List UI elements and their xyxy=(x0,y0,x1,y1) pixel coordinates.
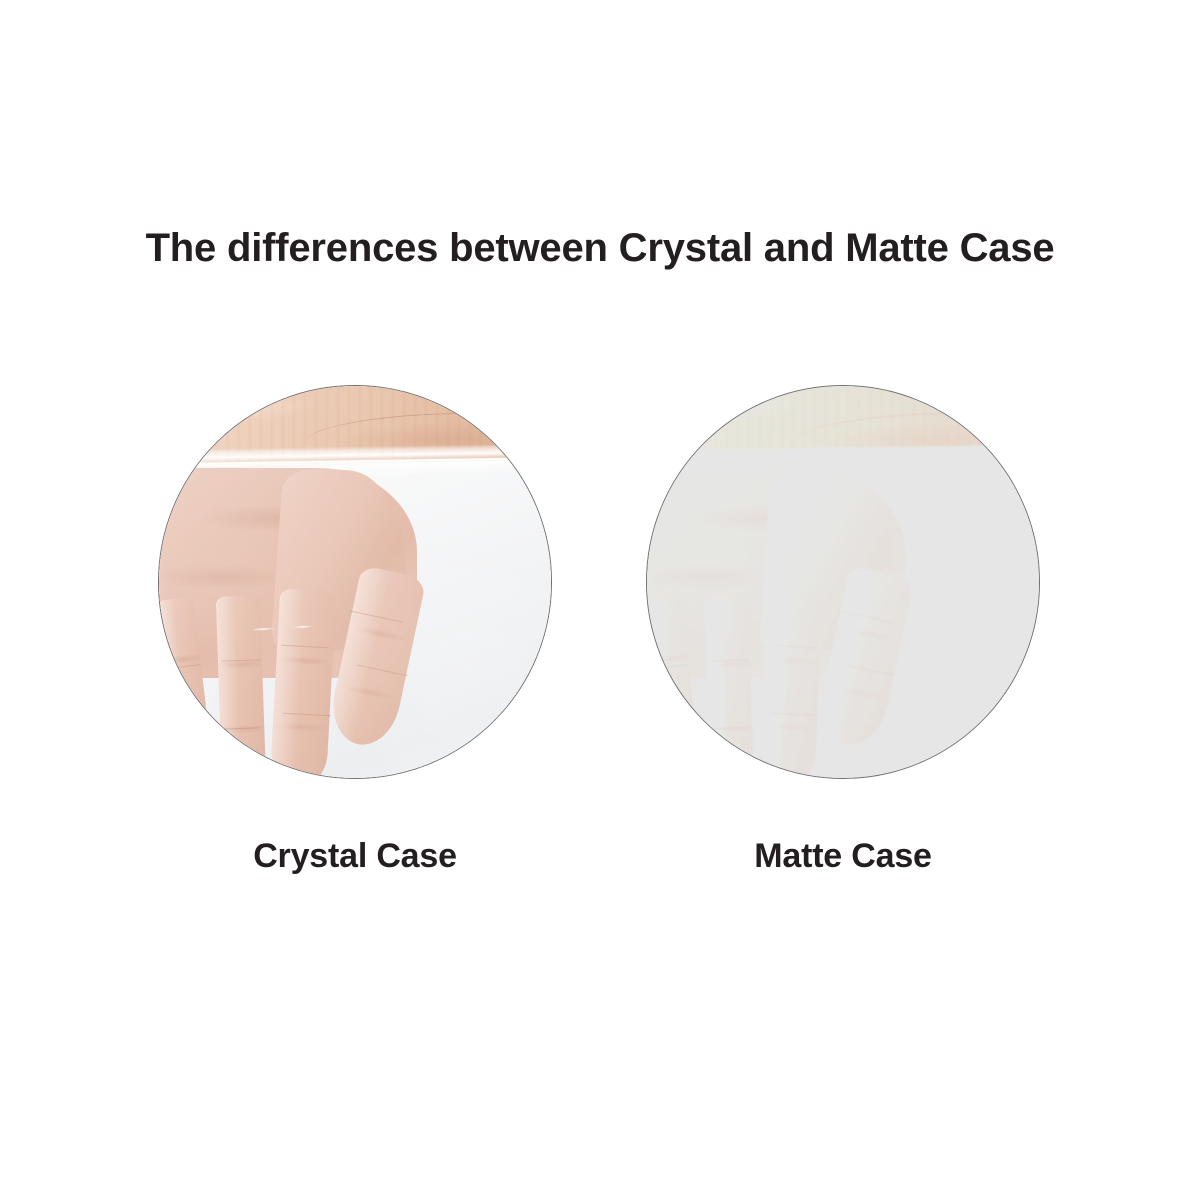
ring-finger xyxy=(704,595,755,779)
matte-case-photo xyxy=(646,385,1040,779)
crystal-case-scene xyxy=(158,385,552,779)
middle-finger xyxy=(758,589,824,779)
middle-finger xyxy=(270,589,336,779)
panel-crystal-case: Crystal Case xyxy=(158,385,554,905)
page-title: The differences between Crystal and Matt… xyxy=(0,225,1200,271)
caption-matte-case: Matte Case xyxy=(646,837,1040,876)
comparison-infographic: The differences between Crystal and Matt… xyxy=(0,0,1200,1200)
matte-case-scene xyxy=(646,385,1040,779)
comparison-row: Crystal Case xyxy=(0,385,1200,905)
caption-crystal-case: Crystal Case xyxy=(158,837,552,876)
panel-matte-case: Matte Case xyxy=(646,385,1042,905)
crystal-case-photo xyxy=(158,385,552,779)
ring-finger xyxy=(216,595,267,779)
